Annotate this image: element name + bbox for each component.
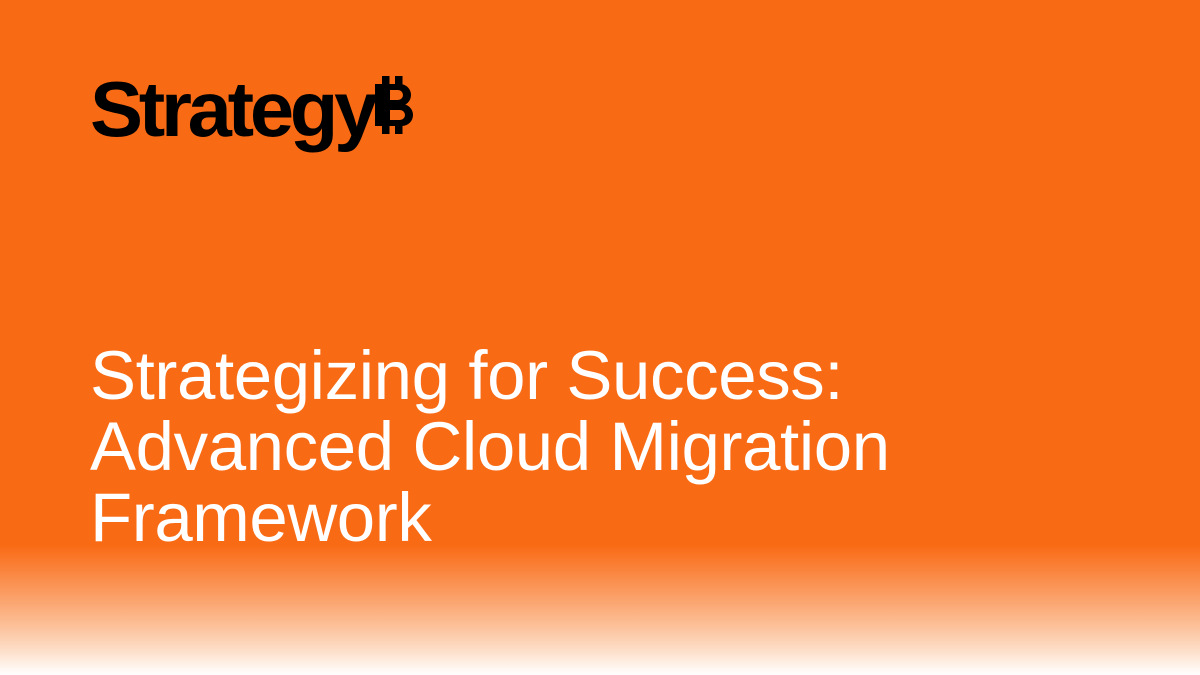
brand-wordmark: Strategy xyxy=(90,74,374,146)
title-slide: Strategy Strategizing for Success: A xyxy=(0,0,1200,675)
title-block: Strategizing for Success: Advanced Cloud… xyxy=(90,340,1090,553)
bottom-gradient-fade xyxy=(0,545,1200,675)
page-title: Strategizing for Success: Advanced Cloud… xyxy=(90,340,1090,553)
bitcoin-symbol-icon xyxy=(370,76,416,134)
brand-logo[interactable]: Strategy xyxy=(90,74,416,146)
